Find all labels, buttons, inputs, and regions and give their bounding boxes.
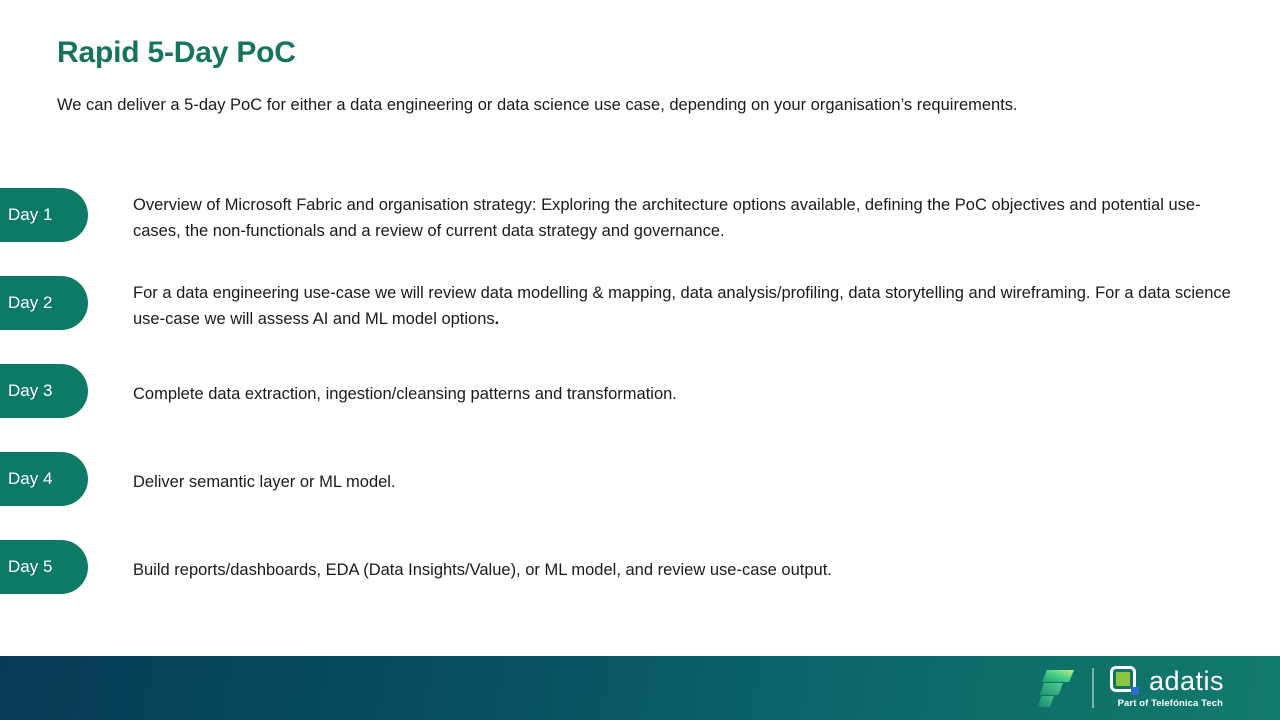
day-badge-label: Day 4 xyxy=(8,469,52,489)
day-badge-4[interactable]: Day 4 xyxy=(0,452,88,506)
day-row: Day 1 Overview of Microsoft Fabric and o… xyxy=(0,188,1280,276)
day-badge-label: Day 5 xyxy=(8,557,52,577)
day-row: Day 3 Complete data extraction, ingestio… xyxy=(0,364,1280,452)
day-description-4: Deliver semantic layer or ML model. xyxy=(133,469,1243,495)
day-row: Day 4 Deliver semantic layer or ML model… xyxy=(0,452,1280,540)
adatis-mark-blue-square xyxy=(1131,687,1139,695)
day-badge-1[interactable]: Day 1 xyxy=(0,188,88,242)
day-description-text: Overview of Microsoft Fabric and organis… xyxy=(133,196,1201,240)
day-list: Day 1 Overview of Microsoft Fabric and o… xyxy=(0,188,1280,628)
footer-divider xyxy=(1092,668,1094,708)
adatis-mark-green-square xyxy=(1116,672,1130,686)
day-description-text: Deliver semantic layer or ML model. xyxy=(133,473,396,491)
page-title: Rapid 5-Day PoC xyxy=(57,33,296,73)
adatis-mark-icon xyxy=(1110,666,1140,696)
day-description-text: For a data engineering use-case we will … xyxy=(133,284,1231,328)
day-badge-label: Day 2 xyxy=(8,293,52,313)
day-badge-label: Day 3 xyxy=(8,381,52,401)
microsoft-fabric-logo-icon xyxy=(1036,666,1076,710)
day-description-2: For a data engineering use-case we will … xyxy=(133,280,1243,332)
adatis-logo-row: adatis xyxy=(1110,666,1224,696)
day-description-text: Build reports/dashboards, EDA (Data Insi… xyxy=(133,561,832,579)
day-description-3: Complete data extraction, ingestion/clea… xyxy=(133,381,1243,407)
day-description-1: Overview of Microsoft Fabric and organis… xyxy=(133,192,1243,244)
adatis-tagline: Part of Telefónica Tech xyxy=(1118,698,1223,710)
day-badge-label: Day 1 xyxy=(8,205,52,225)
day-badge-5[interactable]: Day 5 xyxy=(0,540,88,594)
adatis-wordmark: adatis xyxy=(1149,667,1224,695)
day-badge-3[interactable]: Day 3 xyxy=(0,364,88,418)
footer-logo-group: adatis Part of Telefónica Tech xyxy=(1036,666,1224,710)
day-row: Day 5 Build reports/dashboards, EDA (Dat… xyxy=(0,540,1280,628)
slide-canvas: Rapid 5-Day PoC We can deliver a 5-day P… xyxy=(0,0,1280,720)
day-description-emphasis: . xyxy=(495,310,500,328)
day-badge-2[interactable]: Day 2 xyxy=(0,276,88,330)
slide-subtitle: We can deliver a 5-day PoC for either a … xyxy=(57,92,1197,118)
day-description-5: Build reports/dashboards, EDA (Data Insi… xyxy=(133,557,1243,583)
slide-footer: adatis Part of Telefónica Tech xyxy=(0,656,1280,720)
adatis-logo: adatis Part of Telefónica Tech xyxy=(1110,666,1224,710)
day-description-text: Complete data extraction, ingestion/clea… xyxy=(133,385,677,403)
day-row: Day 2 For a data engineering use-case we… xyxy=(0,276,1280,364)
